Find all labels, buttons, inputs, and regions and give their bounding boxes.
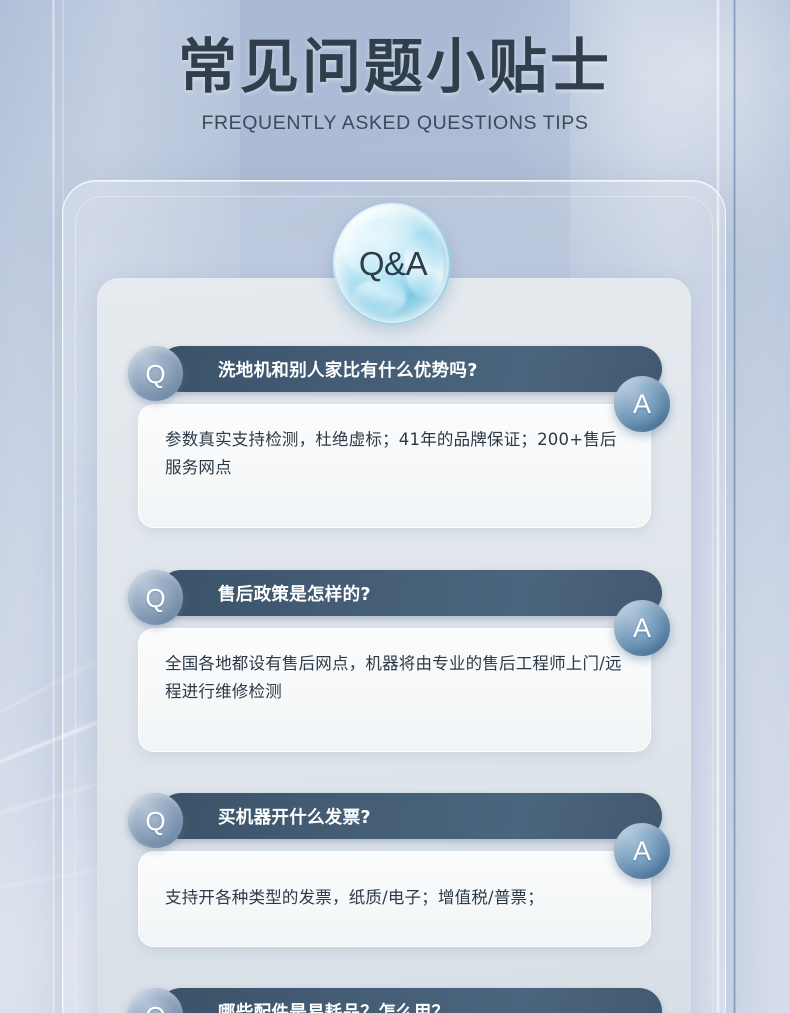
- faq-question-row[interactable]: 售后政策是怎样的? Q: [128, 570, 662, 618]
- faq-answer-row: 全国各地都设有售后网点，机器将由专业的售后工程师上门/远程进行维修检测 A: [128, 628, 662, 752]
- question-badge-label: Q: [145, 585, 165, 611]
- faq-question-bar[interactable]: 买机器开什么发票?: [158, 793, 662, 839]
- qa-bubble: Q&A: [333, 203, 451, 325]
- faq-answer-text: 参数真实支持检测，杜绝虚标；41年的品牌保证；200+售后服务网点: [165, 426, 622, 483]
- question-badge-icon: Q: [128, 793, 183, 848]
- faq-answer-text: 支持开各种类型的发票，纸质/电子；增值税/普票；: [165, 884, 622, 912]
- faq-question-bar[interactable]: 哪些配件是易耗品？怎么用？: [158, 988, 662, 1013]
- faq-question-row[interactable]: 洗地机和别人家比有什么优势吗? Q: [128, 346, 662, 394]
- question-badge-label: Q: [145, 1003, 165, 1013]
- answer-badge-label: A: [633, 838, 651, 865]
- vertical-light-line-left: [52, 0, 55, 1013]
- page-header: 常见问题小贴士 FREQUENTLY ASKED QUESTIONS TIPS: [0, 0, 790, 135]
- faq-item: 洗地机和别人家比有什么优势吗? Q 参数真实支持检测，杜绝虚标；41年的品牌保证…: [128, 346, 662, 528]
- faq-question-row[interactable]: 买机器开什么发票? Q: [128, 793, 662, 841]
- faq-question-text: 洗地机和别人家比有什么优势吗?: [218, 357, 478, 382]
- question-badge-label: Q: [145, 361, 165, 387]
- faq-question-bar[interactable]: 售后政策是怎样的?: [158, 570, 662, 616]
- faq-question-text: 售后政策是怎样的?: [218, 581, 371, 606]
- faq-answer-box: 全国各地都设有售后网点，机器将由专业的售后工程师上门/远程进行维修检测: [138, 628, 651, 752]
- question-badge-label: Q: [145, 808, 165, 834]
- faq-answer-box: 参数真实支持检测，杜绝虚标；41年的品牌保证；200+售后服务网点: [138, 404, 651, 528]
- faq-question-bar[interactable]: 洗地机和别人家比有什么优势吗?: [158, 346, 662, 392]
- faq-answer-row: 参数真实支持检测，杜绝虚标；41年的品牌保证；200+售后服务网点 A: [128, 404, 662, 528]
- page-title: 常见问题小贴士: [0, 34, 790, 100]
- question-badge-icon: Q: [128, 346, 183, 401]
- answer-badge-icon: A: [614, 823, 670, 879]
- faq-question-row[interactable]: 哪些配件是易耗品？怎么用？ Q: [128, 988, 662, 1013]
- vertical-dark-line-right: [733, 0, 736, 1013]
- qa-bubble-label: Q&A: [333, 203, 451, 325]
- faq-item: 哪些配件是易耗品？怎么用？ Q: [128, 988, 662, 1013]
- faq-answer-box: 支持开各种类型的发票，纸质/电子；增值税/普票；: [138, 851, 651, 947]
- answer-badge-icon: A: [614, 600, 670, 656]
- faq-item: 售后政策是怎样的? Q 全国各地都设有售后网点，机器将由专业的售后工程师上门/远…: [128, 570, 662, 752]
- page-subtitle: FREQUENTLY ASKED QUESTIONS TIPS: [0, 112, 790, 135]
- answer-badge-label: A: [633, 391, 651, 418]
- answer-badge-label: A: [633, 615, 651, 642]
- faq-question-text: 哪些配件是易耗品？怎么用？: [218, 999, 449, 1013]
- answer-badge-icon: A: [614, 376, 670, 432]
- question-badge-icon: Q: [128, 570, 183, 625]
- faq-item: 买机器开什么发票? Q 支持开各种类型的发票，纸质/电子；增值税/普票； A: [128, 793, 662, 947]
- faq-answer-text: 全国各地都设有售后网点，机器将由专业的售后工程师上门/远程进行维修检测: [165, 650, 622, 707]
- faq-answer-row: 支持开各种类型的发票，纸质/电子；增值税/普票； A: [128, 851, 662, 947]
- faq-question-text: 买机器开什么发票?: [218, 804, 371, 829]
